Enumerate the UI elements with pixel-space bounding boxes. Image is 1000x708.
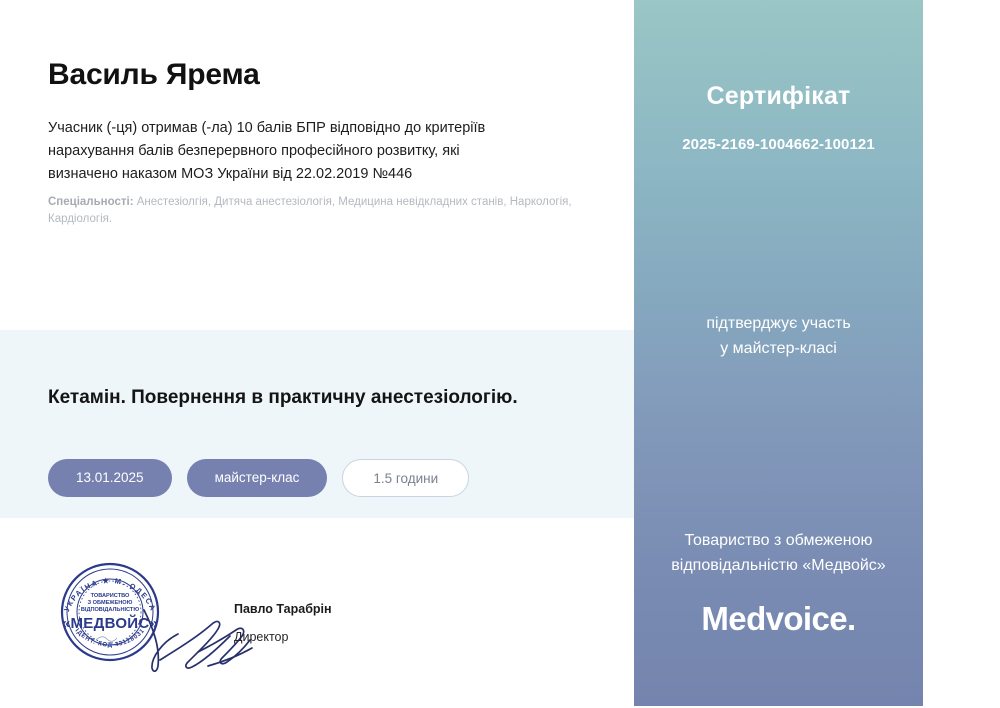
course-badges: 13.01.2025 майстер-клас 1.5 години: [48, 459, 469, 497]
certificate-page: Василь Ярема Учасник (-ця) отримав (-ла)…: [0, 0, 1000, 708]
specialties-label: Спеціальності:: [48, 196, 134, 208]
signer-role: Директор: [234, 630, 474, 644]
certificate-serial-number: 2025-2169-1004662-100121: [634, 136, 923, 153]
company-name-block: Товариство з обмеженою відповідальністю …: [634, 529, 923, 579]
company-line-1: Товариство з обмеженою: [646, 529, 911, 554]
svg-text:З ОБМЕЖЕНОЮ: З ОБМЕЖЕНОЮ: [88, 600, 133, 606]
course-block: Кетамін. Повернення в практичну анестезі…: [48, 386, 608, 411]
certificate-left-column: Василь Ярема Учасник (-ця) отримав (-ла)…: [0, 0, 634, 708]
certificate-title: Сертифікат: [634, 82, 923, 111]
confirmation-text: підтверджує участь у майстер-класі: [634, 312, 923, 362]
badge-date: 13.01.2025: [48, 459, 172, 497]
svg-text:ВІДПОВІДАЛЬНІСТЮ: ВІДПОВІДАЛЬНІСТЮ: [81, 607, 139, 613]
recipient-block: Василь Ярема Учасник (-ця) отримав (-ла)…: [48, 58, 608, 187]
seal-and-signature-area: УКРАЇНА ★ М. ОДЕСА ІДЕНТ. КОД 43128031 Т…: [50, 552, 590, 672]
company-line-2: відповідальністю «Медвойс»: [646, 554, 911, 579]
badge-format: майстер-клас: [187, 459, 328, 497]
confirmation-line-2: у майстер-класі: [634, 337, 923, 362]
company-seal-icon: УКРАЇНА ★ М. ОДЕСА ІДЕНТ. КОД 43128031 Т…: [50, 552, 170, 672]
badge-duration: 1.5 години: [342, 459, 469, 497]
certificate-right-panel: Сертифікат 2025-2169-1004662-100121 підт…: [634, 0, 923, 706]
course-title: Кетамін. Повернення в практичну анестезі…: [48, 386, 608, 411]
signer-block: Павло Тарабрін Директор: [234, 602, 474, 644]
recipient-name: Василь Ярема: [48, 58, 608, 93]
medvoice-logo: Medvoice.: [634, 600, 923, 638]
confirmation-line-1: підтверджує участь: [634, 312, 923, 337]
recipient-description: Учасник (-ця) отримав (-ла) 10 балів БПР…: [48, 117, 518, 187]
svg-text:ТОВАРИСТВО: ТОВАРИСТВО: [91, 593, 130, 599]
specialties-line: Спеціальності: Анестезіолгія, Дитяча ане…: [48, 194, 618, 227]
svg-text:«МЕДВОЙС»: «МЕДВОЙС»: [62, 614, 158, 632]
signer-name: Павло Тарабрін: [234, 602, 474, 616]
